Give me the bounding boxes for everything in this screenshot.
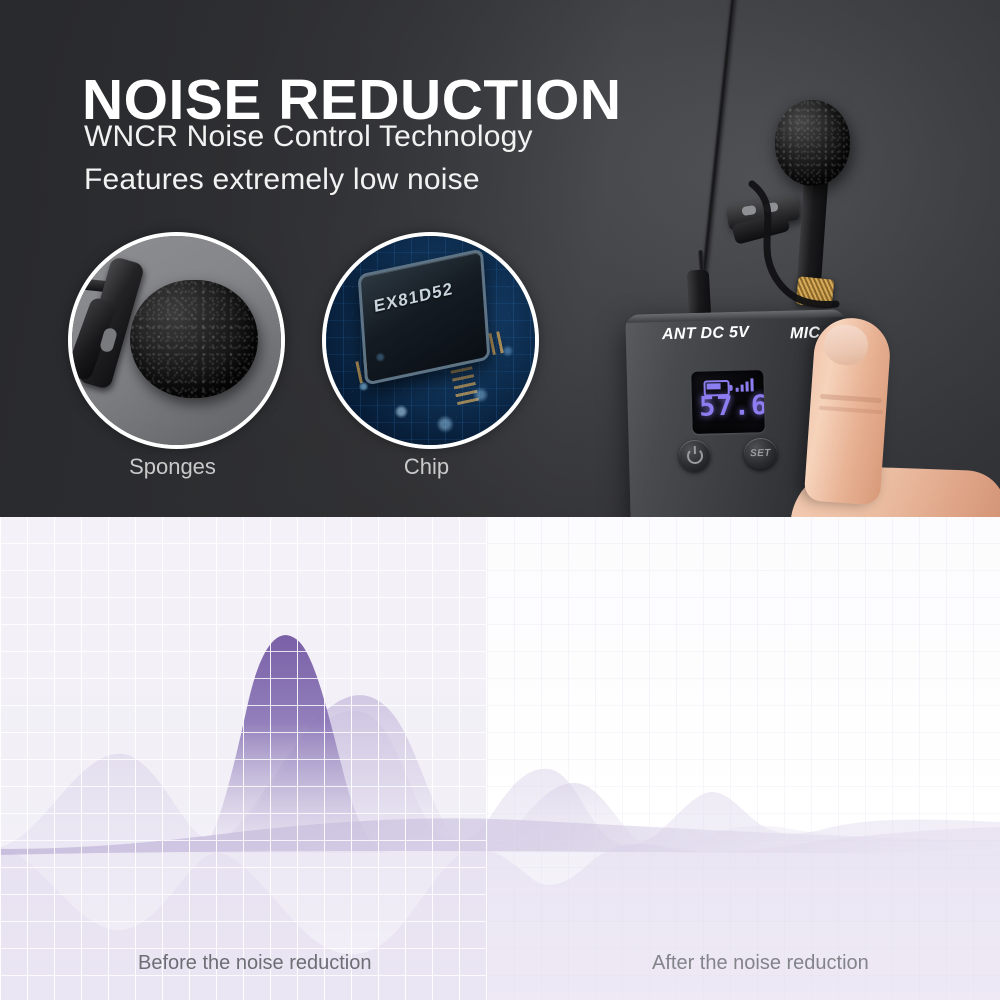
caption-before: Before the noise reduction xyxy=(138,952,372,975)
sponges-image xyxy=(68,232,285,449)
hero-section: NOISE REDUCTION WNCR Noise Control Techn… xyxy=(0,0,1000,517)
feature-label-chip: Chip xyxy=(322,454,531,480)
feature-sponges: Sponges xyxy=(68,232,285,449)
before-grid xyxy=(0,517,487,1000)
microphone-icon xyxy=(775,100,850,186)
lcd-display: 57.6 xyxy=(691,370,765,434)
pcb-glow xyxy=(326,236,535,445)
feature-label-sponges: Sponges xyxy=(68,454,277,480)
foam-texture xyxy=(130,280,258,398)
after-grid xyxy=(487,517,1000,1000)
power-icon xyxy=(686,447,702,463)
antenna-connector xyxy=(687,269,711,318)
feature-chip: EX81D52 Chip xyxy=(322,232,539,449)
hero-subtitle-line-2: Features extremely low noise xyxy=(84,163,480,197)
port-label-ant-dc5v: ANT DC 5V xyxy=(662,324,750,344)
caption-after: After the noise reduction xyxy=(652,952,869,975)
mic-antenna-wire xyxy=(701,0,735,275)
mic-foam-texture xyxy=(775,100,850,186)
hand xyxy=(790,318,1000,517)
windscreen-foam-icon xyxy=(130,280,258,398)
battery-fill xyxy=(707,383,721,389)
hero-subtitle-line-1: WNCR Noise Control Technology xyxy=(84,120,533,154)
chip-image: EX81D52 xyxy=(322,232,539,449)
lcd-frequency-value: 57.6 xyxy=(699,392,758,421)
waveform-comparison-section xyxy=(0,517,1000,1000)
product-infographic: NOISE REDUCTION WNCR Noise Control Techn… xyxy=(0,0,1000,1000)
mic-connector-knurl xyxy=(796,276,835,308)
